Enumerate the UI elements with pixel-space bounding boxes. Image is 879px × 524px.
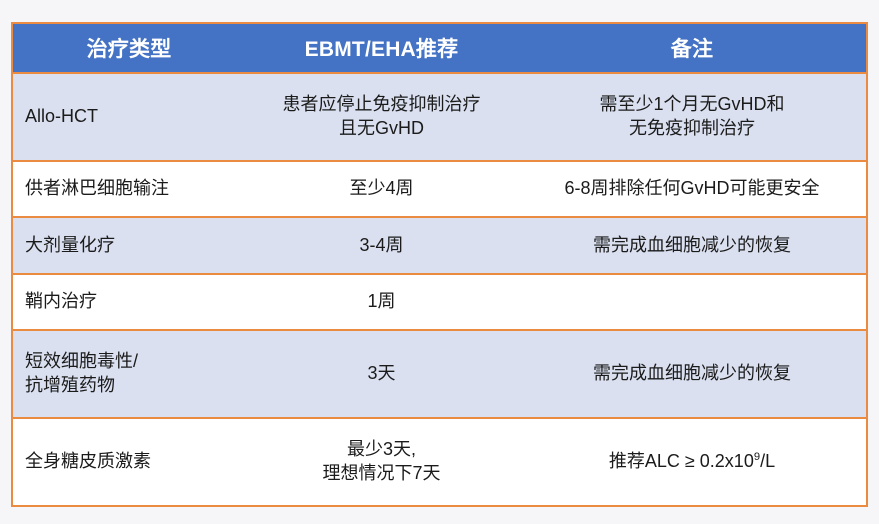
cell-remarks: 需完成血细胞减少的恢复 xyxy=(518,217,866,273)
table-row: 短效细胞毒性/抗增殖药物3天需完成血细胞减少的恢复 xyxy=(13,330,866,418)
page-root: 治疗类型 EBMT/EHA推荐 备注 Allo-HCT患者应停止免疫抑制治疗且无… xyxy=(0,0,879,524)
cell-text-line: 需至少1个月无GvHD和 xyxy=(528,93,856,117)
cell-text-line: 鞘内治疗 xyxy=(25,290,235,314)
cell-recommendation: 1周 xyxy=(245,274,518,330)
table-header-row: 治疗类型 EBMT/EHA推荐 备注 xyxy=(13,24,866,73)
cell-text-line: 抗增殖药物 xyxy=(25,374,235,398)
cell-remarks: 6-8周排除任何GvHD可能更安全 xyxy=(518,161,866,217)
cell-remarks xyxy=(518,274,866,330)
cell-text-line: 需完成血细胞减少的恢复 xyxy=(528,234,856,258)
table-row: Allo-HCT患者应停止免疫抑制治疗且无GvHD需至少1个月无GvHD和无免疫… xyxy=(13,73,866,161)
cell-text-line: 理想情况下7天 xyxy=(255,462,508,486)
cell-text-line: 3-4周 xyxy=(255,234,508,258)
cell-text-line: Allo-HCT xyxy=(25,105,235,129)
table-header: 治疗类型 EBMT/EHA推荐 备注 xyxy=(13,24,866,73)
cell-recommendation: 最少3天,理想情况下7天 xyxy=(245,418,518,505)
cell-text-line: 无免疫抑制治疗 xyxy=(528,117,856,141)
cell-treatment-type: 大剂量化疗 xyxy=(13,217,245,273)
recommendations-table-container: 治疗类型 EBMT/EHA推荐 备注 Allo-HCT患者应停止免疫抑制治疗且无… xyxy=(11,22,868,507)
cell-text-line: 患者应停止免疫抑制治疗 xyxy=(255,93,508,117)
cell-treatment-type: Allo-HCT xyxy=(13,73,245,161)
cell-text-line: 3天 xyxy=(255,362,508,386)
column-header-treatment-type: 治疗类型 xyxy=(13,24,245,73)
cell-text-line: 短效细胞毒性/ xyxy=(25,350,235,374)
cell-treatment-type: 短效细胞毒性/抗增殖药物 xyxy=(13,330,245,418)
column-header-remarks: 备注 xyxy=(518,24,866,73)
cell-text-line: 且无GvHD xyxy=(255,117,508,141)
cell-remarks: 推荐ALC ≥ 0.2x109/L xyxy=(518,418,866,505)
table-row: 大剂量化疗3-4周需完成血细胞减少的恢复 xyxy=(13,217,866,273)
cell-text-line: 6-8周排除任何GvHD可能更安全 xyxy=(528,177,856,201)
cell-recommendation: 患者应停止免疫抑制治疗且无GvHD xyxy=(245,73,518,161)
cell-text-line: 大剂量化疗 xyxy=(25,234,235,258)
cell-text-line: 至少4周 xyxy=(255,177,508,201)
cell-text-line: 推荐ALC ≥ 0.2x109/L xyxy=(528,450,856,474)
cell-text-line: 1周 xyxy=(255,290,508,314)
cell-treatment-type: 供者淋巴细胞输注 xyxy=(13,161,245,217)
table-body: Allo-HCT患者应停止免疫抑制治疗且无GvHD需至少1个月无GvHD和无免疫… xyxy=(13,73,866,505)
cell-text-line: 需完成血细胞减少的恢复 xyxy=(528,362,856,386)
cell-recommendation: 3-4周 xyxy=(245,217,518,273)
table-row: 全身糖皮质激素最少3天,理想情况下7天推荐ALC ≥ 0.2x109/L xyxy=(13,418,866,505)
cell-treatment-type: 全身糖皮质激素 xyxy=(13,418,245,505)
cell-remarks: 需完成血细胞减少的恢复 xyxy=(518,330,866,418)
cell-text-line: 全身糖皮质激素 xyxy=(25,450,235,474)
cell-text-line: 供者淋巴细胞输注 xyxy=(25,177,235,201)
table-row: 供者淋巴细胞输注至少4周6-8周排除任何GvHD可能更安全 xyxy=(13,161,866,217)
cell-text-line: 最少3天, xyxy=(255,438,508,462)
cell-recommendation: 至少4周 xyxy=(245,161,518,217)
table-row: 鞘内治疗1周 xyxy=(13,274,866,330)
recommendations-table: 治疗类型 EBMT/EHA推荐 备注 Allo-HCT患者应停止免疫抑制治疗且无… xyxy=(13,24,866,505)
cell-treatment-type: 鞘内治疗 xyxy=(13,274,245,330)
cell-recommendation: 3天 xyxy=(245,330,518,418)
cell-remarks: 需至少1个月无GvHD和无免疫抑制治疗 xyxy=(518,73,866,161)
column-header-ebmt-eha-recommendation: EBMT/EHA推荐 xyxy=(245,24,518,73)
